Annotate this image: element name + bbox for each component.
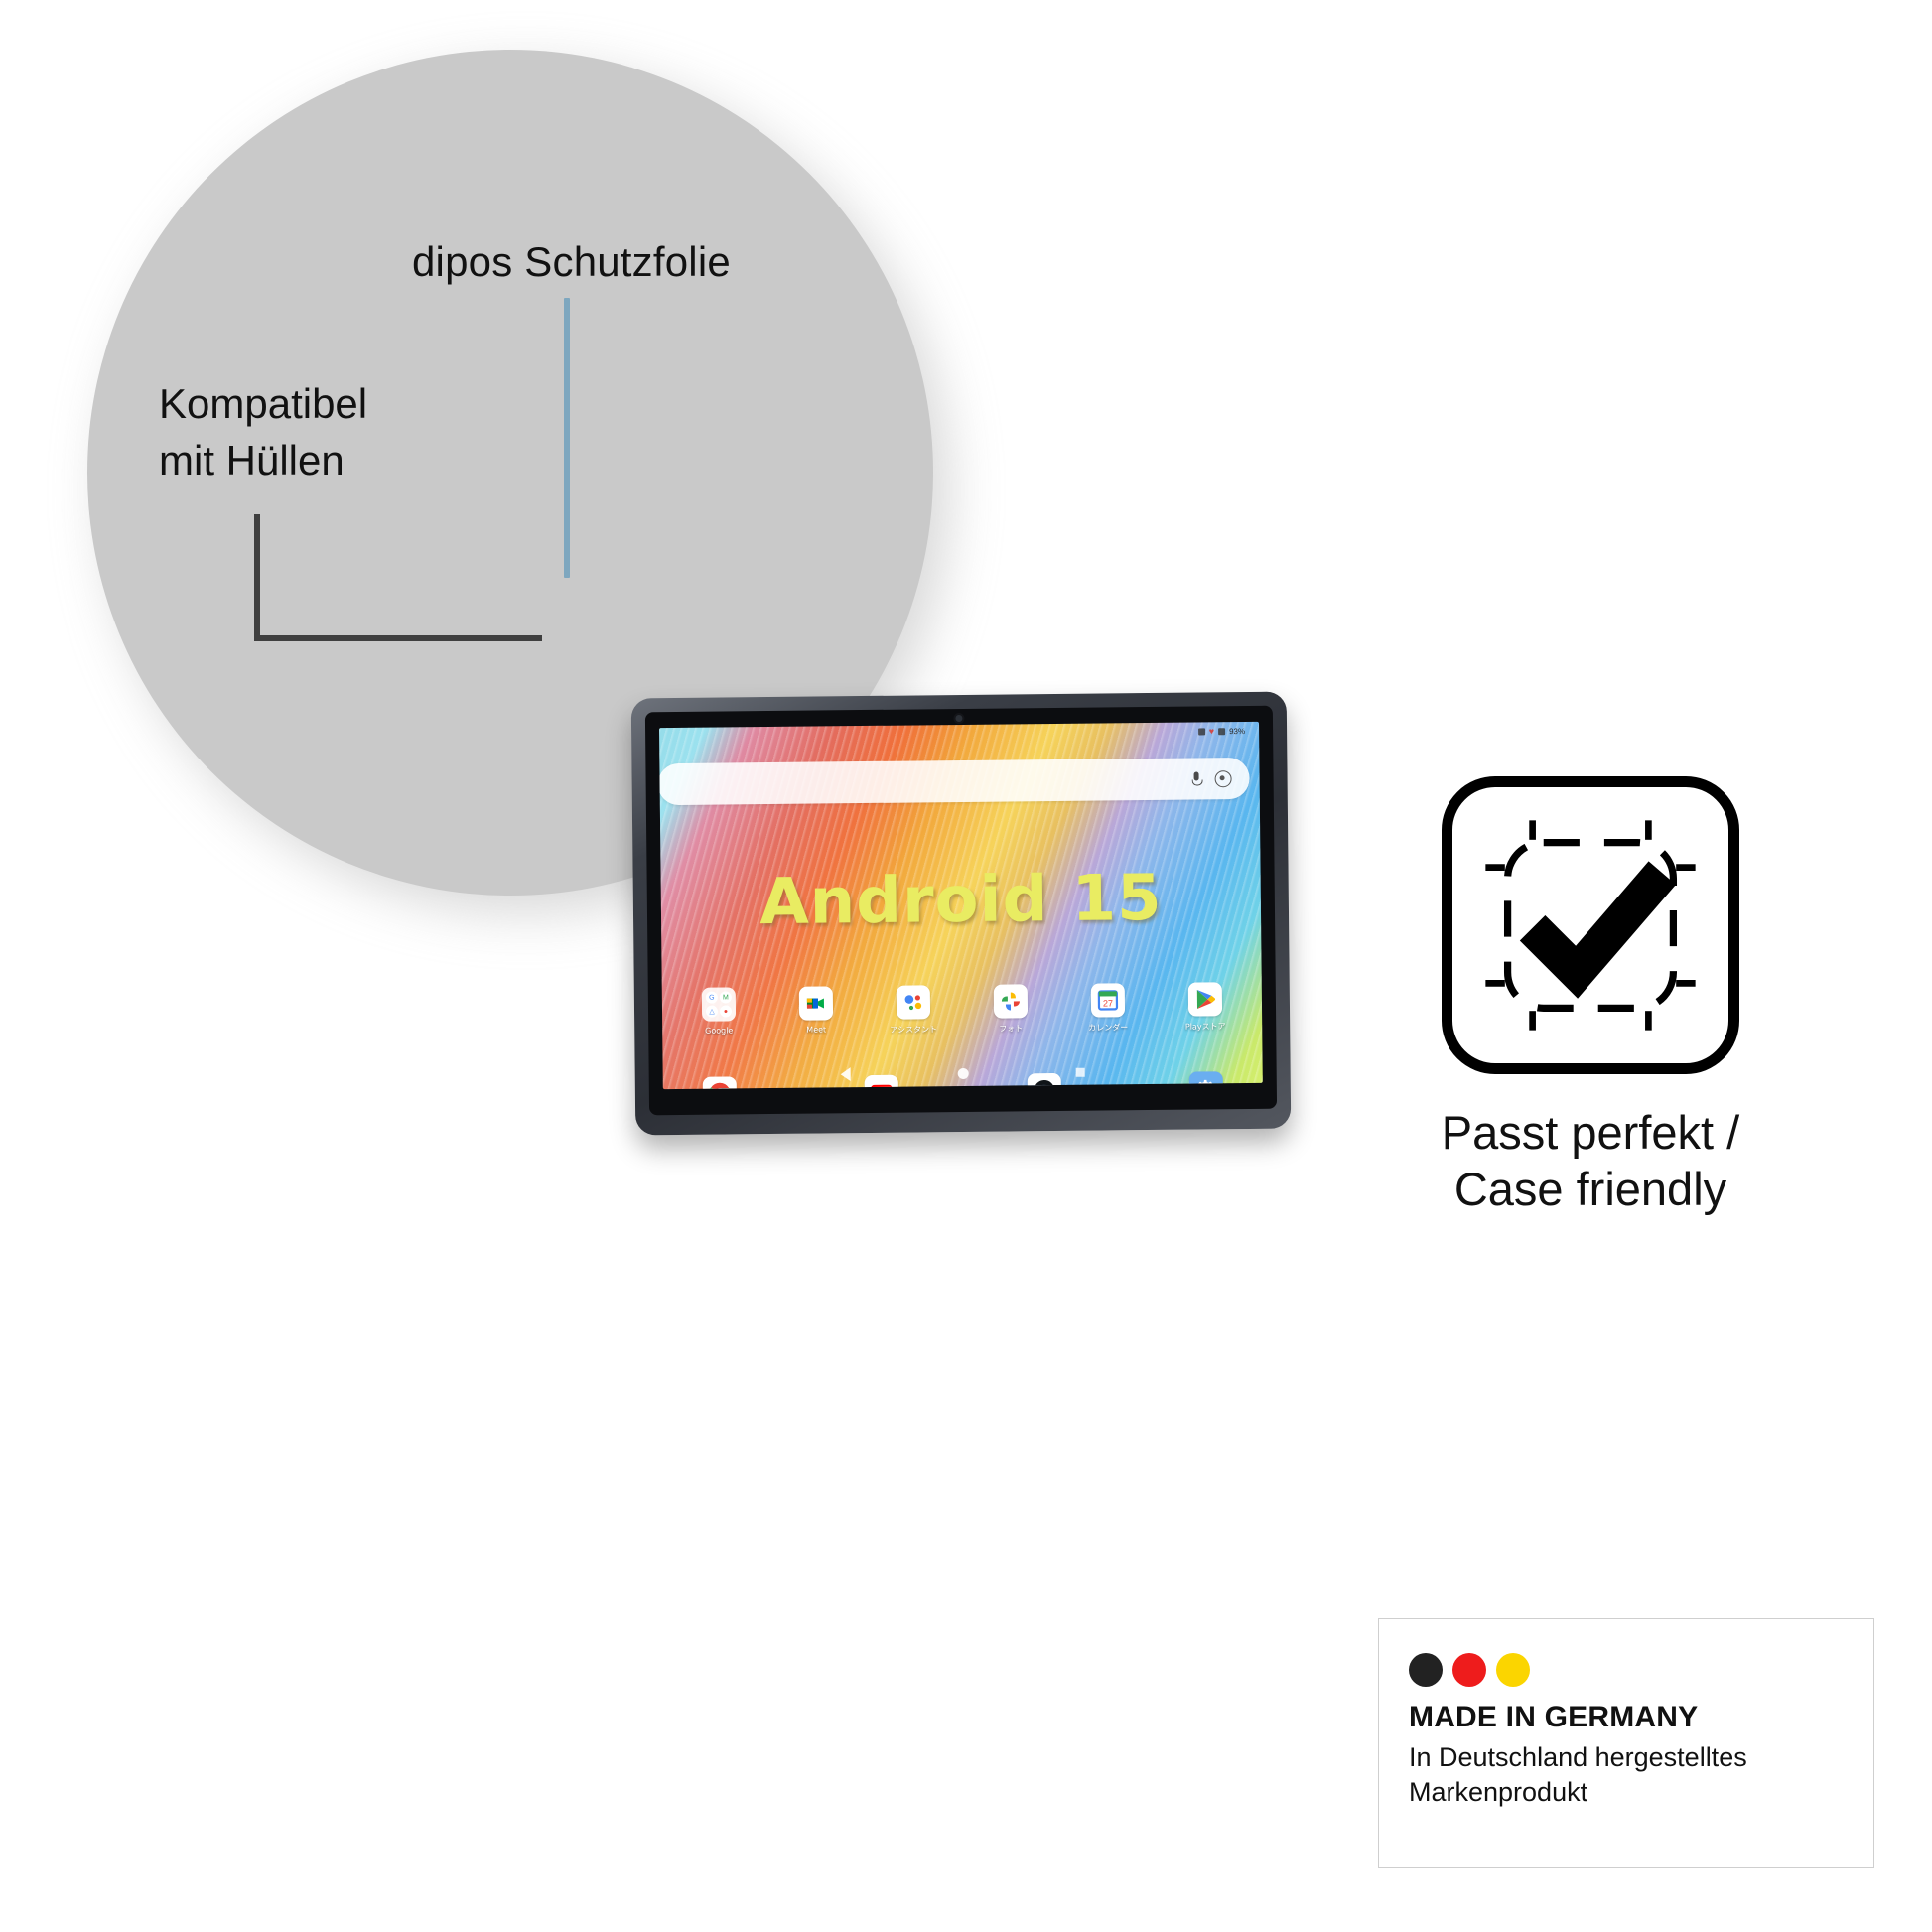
tablet-screen: ♥ 93% Android 15 G M △ ●	[659, 722, 1263, 1089]
leader-line-schutzfolie	[564, 298, 570, 578]
app-calendar[interactable]: 27 カレンダー	[1073, 983, 1144, 1034]
battery-icon	[1218, 728, 1225, 735]
google-g-icon: G	[706, 992, 718, 1004]
status-bar: ♥ 93%	[1198, 727, 1245, 736]
made-in-germany-badge: MADE IN GERMANY In Deutschland hergestel…	[1378, 1618, 1874, 1868]
google-play-store-icon	[1188, 982, 1222, 1016]
maps-icon: ●	[720, 1005, 732, 1017]
nav-recents-icon[interactable]	[1076, 1067, 1085, 1076]
black-dot	[1409, 1653, 1443, 1687]
tablet-device: ♥ 93% Android 15 G M △ ●	[633, 695, 1289, 1152]
callout-subtitle-line-1: Kompatibel	[159, 375, 516, 432]
subtitle-line-1: In Deutschland hergestelltes	[1409, 1740, 1844, 1775]
caption-line-1: Passt perfekt /	[1352, 1104, 1829, 1161]
app-meet[interactable]: Meet	[781, 986, 851, 1035]
signal-icon	[1198, 728, 1205, 735]
app-label: Meet	[806, 1025, 826, 1034]
app-label: カレンダー	[1088, 1022, 1128, 1033]
app-assistant[interactable]: アシスタント	[879, 985, 949, 1035]
drive-icon: △	[706, 1006, 718, 1018]
home-screen-app-row: G M △ ● Google	[670, 982, 1254, 1037]
tablet-body: ♥ 93% Android 15 G M △ ●	[631, 692, 1292, 1136]
app-label: Google	[705, 1026, 733, 1035]
callout-title: dipos Schutzfolie	[412, 238, 839, 286]
red-dot	[1452, 1653, 1486, 1687]
german-flag-dots	[1409, 1653, 1844, 1687]
caption-line-2: Case friendly	[1352, 1161, 1829, 1217]
callout-subtitle-line-2: mit Hüllen	[159, 432, 516, 488]
google-photos-icon	[994, 984, 1028, 1018]
corner-bracket-huellen	[254, 514, 542, 641]
callout-subtitle: Kompatibel mit Hüllen	[159, 375, 516, 488]
app-label: フォト	[999, 1023, 1023, 1034]
app-google-folder[interactable]: G M △ ● Google	[684, 987, 754, 1035]
gmail-icon: M	[720, 991, 732, 1003]
case-friendly-caption: Passt perfekt / Case friendly	[1352, 1104, 1829, 1218]
battery-level: 93%	[1229, 727, 1245, 736]
google-search-bar[interactable]	[659, 758, 1250, 805]
bracket-horizontal-segment	[254, 635, 542, 641]
app-play-store[interactable]: Playストア	[1171, 982, 1241, 1033]
google-meet-icon	[799, 986, 833, 1020]
nav-home-icon[interactable]	[958, 1067, 969, 1078]
nav-back-icon[interactable]	[841, 1067, 851, 1081]
google-folder-icon: G M △ ●	[702, 987, 736, 1021]
app-label: アシスタント	[890, 1024, 937, 1035]
gold-dot	[1496, 1653, 1530, 1687]
tablet-bezel: ♥ 93% Android 15 G M △ ●	[645, 706, 1277, 1116]
google-lens-icon[interactable]	[1215, 770, 1232, 787]
google-assistant-icon	[897, 985, 930, 1019]
front-camera-icon	[955, 715, 962, 722]
made-in-germany-title: MADE IN GERMANY	[1409, 1701, 1844, 1734]
made-in-germany-subtitle: In Deutschland hergestelltes Markenprodu…	[1409, 1740, 1844, 1810]
google-calendar-icon: 27	[1091, 983, 1125, 1017]
microphone-icon[interactable]	[1192, 771, 1201, 785]
app-label: Playストア	[1185, 1021, 1226, 1032]
case-friendly-badge: Passt perfekt / Case friendly	[1442, 776, 1739, 1074]
bracket-vertical-segment	[254, 514, 260, 641]
heart-icon: ♥	[1209, 727, 1214, 736]
svg-text:27: 27	[1103, 998, 1113, 1008]
subtitle-line-2: Markenprodukt	[1409, 1775, 1844, 1810]
android-version-label: Android 15	[660, 861, 1261, 940]
app-photos[interactable]: フォト	[976, 984, 1046, 1035]
case-friendly-check-icon	[1442, 776, 1739, 1074]
